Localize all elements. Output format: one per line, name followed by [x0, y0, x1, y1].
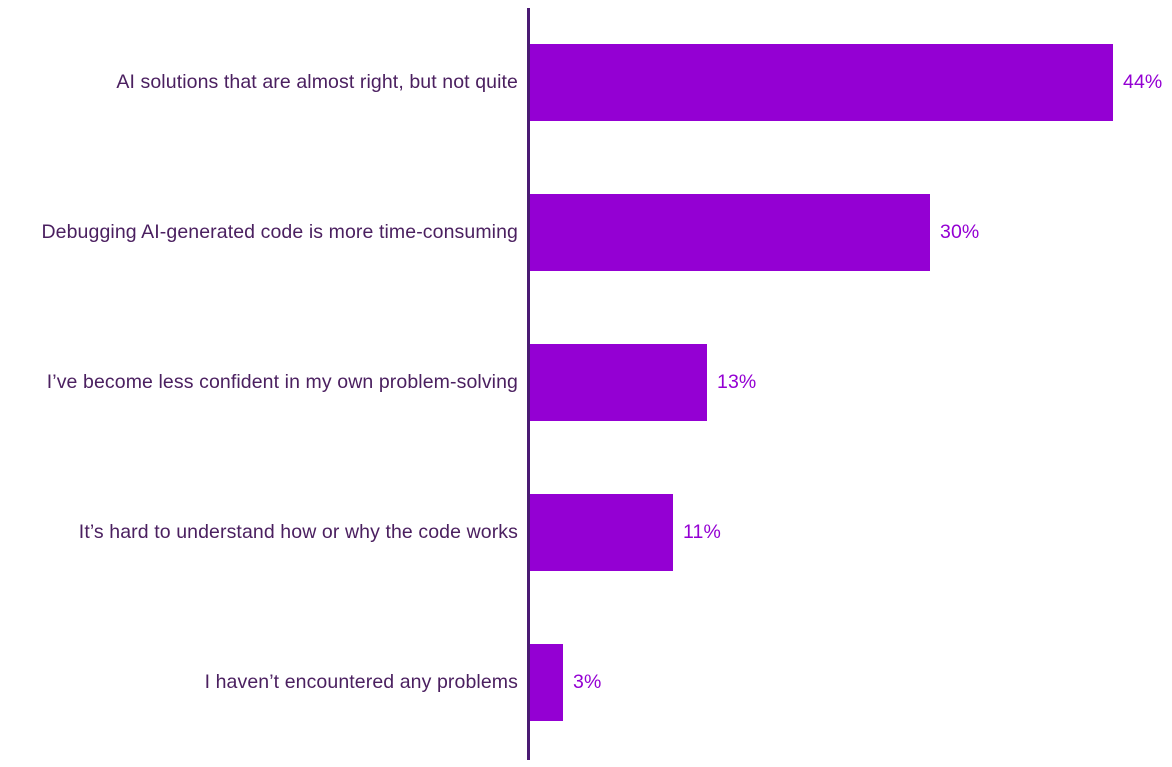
- bar-row: I haven’t encountered any problems 3%: [0, 644, 1172, 721]
- bar-row: I’ve become less confident in my own pro…: [0, 344, 1172, 421]
- bar[interactable]: [530, 494, 673, 571]
- bar[interactable]: [530, 644, 563, 721]
- bar-value-label: 13%: [717, 344, 756, 421]
- category-label: I haven’t encountered any problems: [205, 644, 518, 721]
- category-label: It’s hard to understand how or why the c…: [79, 494, 518, 571]
- horizontal-bar-chart: AI solutions that are almost right, but …: [0, 0, 1172, 767]
- bar-value-label: 11%: [683, 494, 721, 571]
- plot-area: AI solutions that are almost right, but …: [0, 0, 1172, 767]
- category-label: I’ve become less confident in my own pro…: [47, 344, 518, 421]
- category-label: Debugging AI-generated code is more time…: [41, 194, 518, 271]
- bar-row: AI solutions that are almost right, but …: [0, 44, 1172, 121]
- bar[interactable]: [530, 194, 930, 271]
- bar-row: It’s hard to understand how or why the c…: [0, 494, 1172, 571]
- bar-value-label: 44%: [1123, 44, 1162, 121]
- category-label: AI solutions that are almost right, but …: [116, 44, 518, 121]
- bar-value-label: 30%: [940, 194, 979, 271]
- bar-value-label: 3%: [573, 644, 601, 721]
- bar[interactable]: [530, 344, 707, 421]
- bar-row: Debugging AI-generated code is more time…: [0, 194, 1172, 271]
- bar[interactable]: [530, 44, 1113, 121]
